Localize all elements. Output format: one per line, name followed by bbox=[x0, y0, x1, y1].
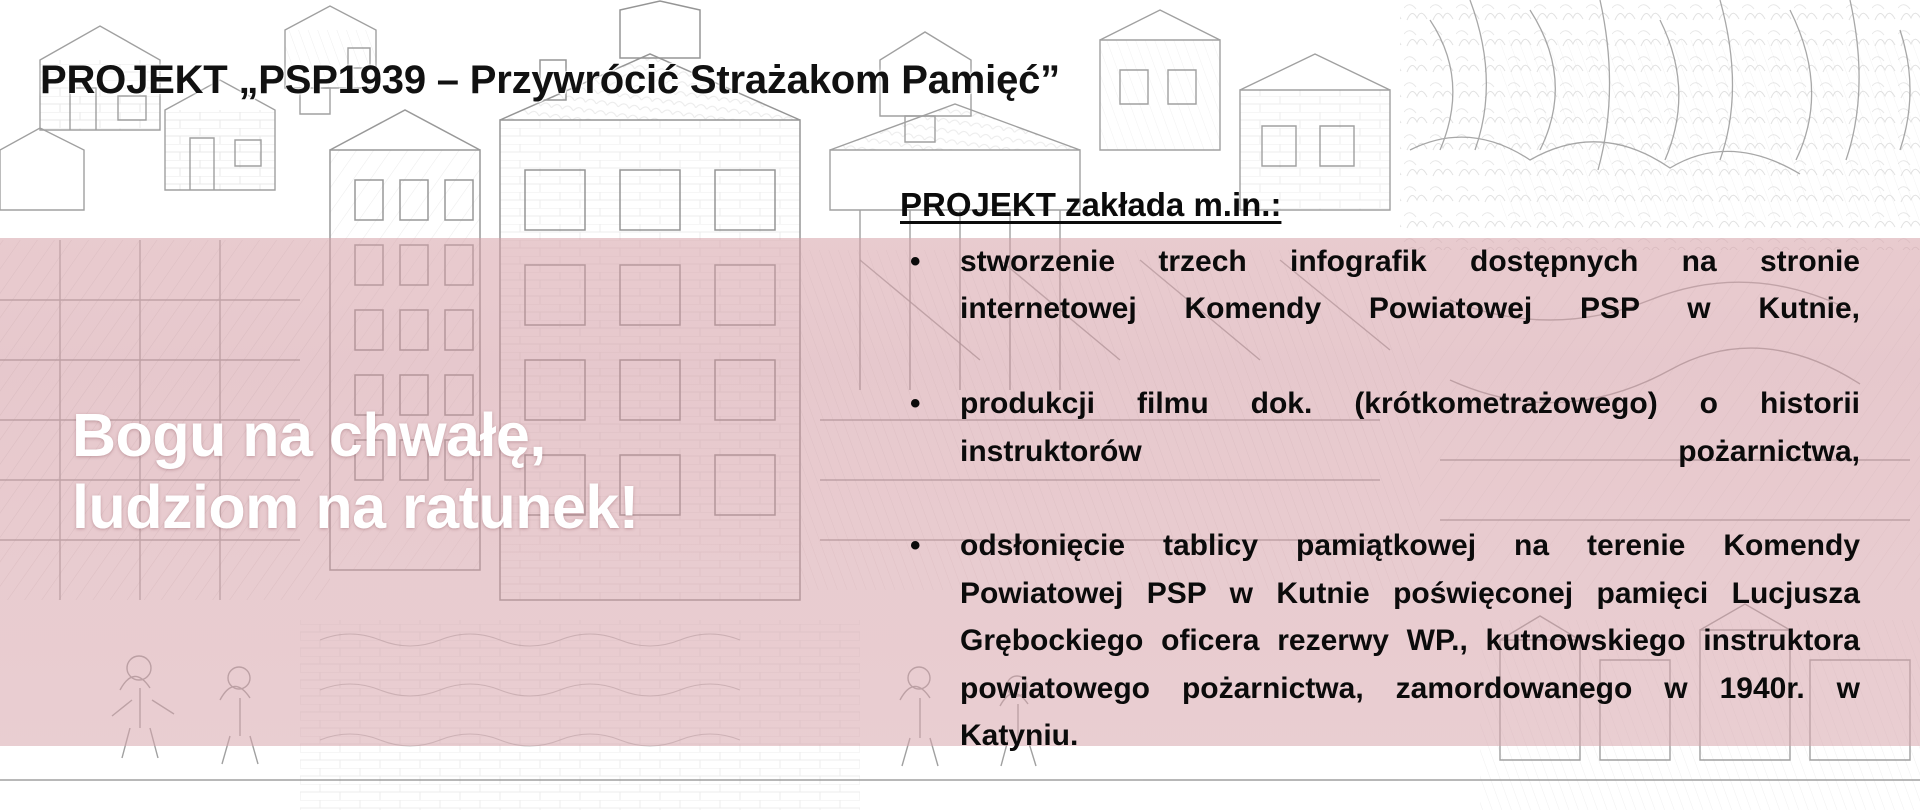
content-column: PROJEKT zakłada m.in.: • stworzenie trze… bbox=[900, 186, 1860, 807]
list-item-text: odsłonięcie tablicy pamiątkowej na teren… bbox=[960, 522, 1860, 806]
list-item: • odsłonięcie tablicy pamiątkowej na ter… bbox=[900, 522, 1860, 806]
bullet-marker-icon: • bbox=[910, 238, 921, 285]
slogan-line-1: Bogu na chwałę, bbox=[72, 400, 639, 472]
slogan-line-2: ludziom na ratunek! bbox=[72, 472, 639, 544]
content-heading: PROJEKT zakłada m.in.: bbox=[900, 186, 1860, 224]
list-item: • produkcji filmu dok. (krótkometrażoweg… bbox=[900, 380, 1860, 522]
list-item-text: produkcji filmu dok. (krótkometrażowego)… bbox=[960, 380, 1860, 522]
page-title: PROJEKT „PSP1939 – Przywrócić Strażakom … bbox=[40, 58, 1060, 103]
list-item: • stworzenie trzech infografik dostępnyc… bbox=[900, 238, 1860, 380]
slogan: Bogu na chwałę, ludziom na ratunek! bbox=[72, 400, 639, 544]
bullet-marker-icon: • bbox=[910, 380, 921, 427]
bullet-marker-icon: • bbox=[910, 522, 921, 569]
slide: PROJEKT „PSP1939 – Przywrócić Strażakom … bbox=[0, 0, 1920, 810]
project-scope-list: • stworzenie trzech infografik dostępnyc… bbox=[900, 238, 1860, 807]
list-item-text: stworzenie trzech infografik dostępnych … bbox=[960, 238, 1860, 380]
